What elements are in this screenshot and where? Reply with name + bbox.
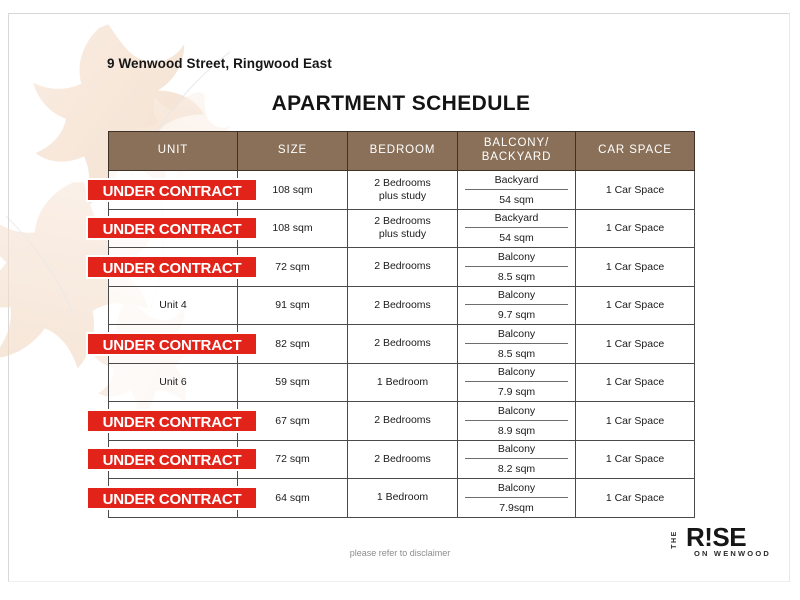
balcony-type: Balcony xyxy=(465,440,568,459)
cell-balcony-backyard: Balcony7.9 sqm xyxy=(458,363,576,402)
bedroom-line1: 2 Bedrooms xyxy=(374,337,431,349)
under-contract-banner: UNDER CONTRACT xyxy=(86,409,258,433)
unit-label: Unit 4 xyxy=(159,299,186,311)
bedroom-line2: plus study xyxy=(379,228,426,240)
under-contract-banner: UNDER CONTRACT xyxy=(86,216,258,240)
cell-balcony-backyard: Backyard54 sqm xyxy=(458,171,576,210)
cell-car-space: 1 Car Space xyxy=(576,363,695,402)
balcony-area: 7.9 sqm xyxy=(458,382,575,401)
under-contract-banner: UNDER CONTRACT xyxy=(86,447,258,471)
balcony-area: 7.9sqm xyxy=(458,498,575,517)
column-header-balcony-line1: BALCONY/ xyxy=(484,137,549,149)
cell-car-space: 1 Car Space xyxy=(576,402,695,441)
bedroom-line1: 2 Bedrooms xyxy=(374,453,431,465)
balcony-type: Backyard xyxy=(465,171,568,190)
cell-unit: Unit 6 xyxy=(109,363,238,402)
table-row: Unit 659 sqm1 BedroomBalcony7.9 sqm1 Car… xyxy=(109,363,695,402)
cell-unit: Unit 4 xyxy=(109,286,238,325)
table-row: UNDER CONTRACT72 sqm2 BedroomsBalcony8.2… xyxy=(109,440,695,479)
cell-unit: UNDER CONTRACT xyxy=(109,209,238,248)
cell-bedroom: 2 Bedroomsplus study xyxy=(348,171,458,210)
column-header-unit: UNIT xyxy=(109,132,238,171)
balcony-type: Balcony xyxy=(465,325,568,344)
bedroom-line1: 2 Bedrooms xyxy=(374,177,431,189)
under-contract-banner: UNDER CONTRACT xyxy=(86,332,258,356)
cell-bedroom: 2 Bedrooms xyxy=(348,440,458,479)
table-row: UNDER CONTRACT108 sqm2 Bedroomsplus stud… xyxy=(109,171,695,210)
table-row: UNDER CONTRACT72 sqm2 BedroomsBalcony8.5… xyxy=(109,248,695,287)
cell-unit: UNDER CONTRACT xyxy=(109,248,238,287)
page-sheet: 9 Wenwood Street, Ringwood East APARTMEN… xyxy=(0,0,800,600)
cell-bedroom: 2 Bedrooms xyxy=(348,325,458,364)
bedroom-line2: plus study xyxy=(379,190,426,202)
cell-car-space: 1 Car Space xyxy=(576,325,695,364)
balcony-area: 54 sqm xyxy=(458,190,575,209)
table-row: Unit 491 sqm2 BedroomsBalcony9.7 sqm1 Ca… xyxy=(109,286,695,325)
bedroom-line1: 2 Bedrooms xyxy=(374,260,431,272)
cell-bedroom: 1 Bedroom xyxy=(348,363,458,402)
cell-unit: UNDER CONTRACT xyxy=(109,325,238,364)
column-header-size: SIZE xyxy=(238,132,348,171)
cell-bedroom: 2 Bedrooms xyxy=(348,402,458,441)
balcony-type: Backyard xyxy=(465,209,568,228)
table-body: UNDER CONTRACT108 sqm2 Bedroomsplus stud… xyxy=(109,171,695,518)
disclaimer-note: please refer to disclaimer xyxy=(250,548,550,558)
column-header-balcony-line2: BACKYARD xyxy=(482,151,552,163)
cell-bedroom: 1 Bedroom xyxy=(348,479,458,518)
column-header-bedroom: BEDROOM xyxy=(348,132,458,171)
cell-unit: UNDER CONTRACT xyxy=(109,479,238,518)
cell-car-space: 1 Car Space xyxy=(576,286,695,325)
balcony-area: 54 sqm xyxy=(458,228,575,247)
cell-balcony-backyard: Balcony8.5 sqm xyxy=(458,248,576,287)
under-contract-banner: UNDER CONTRACT xyxy=(86,486,258,510)
table-row: UNDER CONTRACT64 sqm1 BedroomBalcony7.9s… xyxy=(109,479,695,518)
cell-balcony-backyard: Balcony7.9sqm xyxy=(458,479,576,518)
balcony-type: Balcony xyxy=(465,479,568,498)
cell-balcony-backyard: Balcony9.7 sqm xyxy=(458,286,576,325)
cell-balcony-backyard: Backyard54 sqm xyxy=(458,209,576,248)
table-row: UNDER CONTRACT67 sqm2 BedroomsBalcony8.9… xyxy=(109,402,695,441)
cell-bedroom: 2 Bedrooms xyxy=(348,286,458,325)
cell-car-space: 1 Car Space xyxy=(576,479,695,518)
cell-bedroom: 2 Bedrooms xyxy=(348,248,458,287)
bedroom-line1: 2 Bedrooms xyxy=(374,215,431,227)
balcony-area: 8.2 sqm xyxy=(458,459,575,478)
bedroom-line1: 2 Bedrooms xyxy=(374,414,431,426)
under-contract-banner: UNDER CONTRACT xyxy=(86,178,258,202)
balcony-area: 8.5 sqm xyxy=(458,344,575,363)
balcony-type: Balcony xyxy=(465,248,568,267)
cell-unit: UNDER CONTRACT xyxy=(109,402,238,441)
property-address-heading: 9 Wenwood Street, Ringwood East xyxy=(107,56,332,71)
bedroom-line1: 1 Bedroom xyxy=(377,491,428,503)
balcony-type: Balcony xyxy=(465,402,568,421)
table-header-row: UNIT SIZE BEDROOM BALCONY/ BACKYARD CAR … xyxy=(109,132,695,171)
cell-car-space: 1 Car Space xyxy=(576,171,695,210)
cell-balcony-backyard: Balcony8.5 sqm xyxy=(458,325,576,364)
cell-car-space: 1 Car Space xyxy=(576,248,695,287)
table-row: UNDER CONTRACT108 sqm2 Bedroomsplus stud… xyxy=(109,209,695,248)
cell-balcony-backyard: Balcony8.9 sqm xyxy=(458,402,576,441)
balcony-area: 8.9 sqm xyxy=(458,421,575,440)
cell-size: 59 sqm xyxy=(238,363,348,402)
cell-size: 91 sqm xyxy=(238,286,348,325)
brand-logo: THE R!SE ON WENWOOD xyxy=(672,524,778,560)
balcony-type: Balcony xyxy=(465,363,568,382)
balcony-type: Balcony xyxy=(465,286,568,305)
cell-balcony-backyard: Balcony8.2 sqm xyxy=(458,440,576,479)
bedroom-line1: 2 Bedrooms xyxy=(374,299,431,311)
balcony-area: 9.7 sqm xyxy=(458,305,575,324)
column-header-balcony-backyard: BALCONY/ BACKYARD xyxy=(458,132,576,171)
page-title: APARTMENT SCHEDULE xyxy=(108,92,694,116)
bedroom-line1: 1 Bedroom xyxy=(377,376,428,388)
balcony-area: 8.5 sqm xyxy=(458,267,575,286)
cell-unit: UNDER CONTRACT xyxy=(109,171,238,210)
logo-subtitle: ON WENWOOD xyxy=(694,549,771,558)
unit-label: Unit 6 xyxy=(159,376,186,388)
cell-car-space: 1 Car Space xyxy=(576,209,695,248)
logo-the-text: THE xyxy=(671,530,678,549)
cell-car-space: 1 Car Space xyxy=(576,440,695,479)
cell-bedroom: 2 Bedroomsplus study xyxy=(348,209,458,248)
column-header-car-space: CAR SPACE xyxy=(576,132,695,171)
apartment-schedule-table: UNIT SIZE BEDROOM BALCONY/ BACKYARD CAR … xyxy=(108,131,695,518)
table-row: UNDER CONTRACT82 sqm2 BedroomsBalcony8.5… xyxy=(109,325,695,364)
cell-unit: UNDER CONTRACT xyxy=(109,440,238,479)
under-contract-banner: UNDER CONTRACT xyxy=(86,255,258,279)
